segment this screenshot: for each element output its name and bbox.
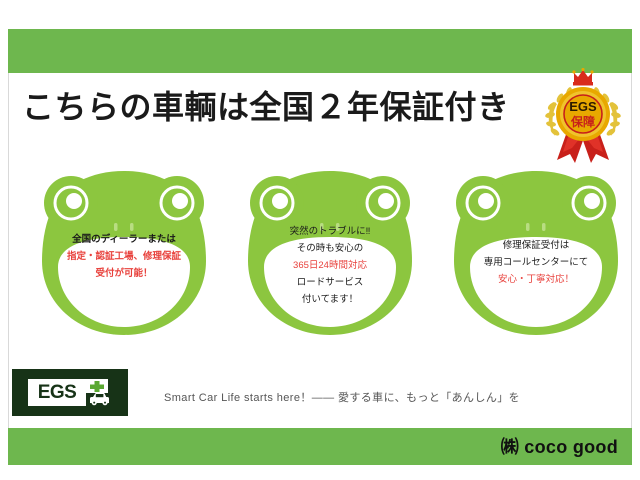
egs-logo-mark: [86, 379, 114, 406]
company-name: ㈱ coco good: [501, 438, 618, 456]
badge-line1: EGS: [569, 99, 597, 114]
panel-line: 修理保証受付は: [456, 237, 616, 254]
top-green-band: [8, 29, 632, 73]
panel-line: 指定・認証工場、修理保証: [44, 248, 204, 265]
feature-panels: 全国のディーラーまたは 指定・認証工場、修理保証 受付が可能！: [8, 163, 632, 343]
panel-text: 突然のトラブルに‼ その時も安心の 365日24時間対応 ロードサービス 付いて…: [250, 223, 410, 308]
tagline: Smart Car Life starts here！—— 愛する車に、もっと「…: [164, 393, 584, 404]
panel-line: その時も安心の: [250, 240, 410, 257]
panel-line: 全国のディーラーまたは: [44, 231, 204, 248]
panel-line: ロードサービス: [250, 274, 410, 291]
panel-line: 突然のトラブルに‼: [250, 223, 410, 240]
badge-line2: 保障: [570, 114, 595, 129]
panel-line: 安心・丁寧対応！: [456, 271, 616, 288]
panel-dealer-network: 全国のディーラーまたは 指定・認証工場、修理保証 受付が可能！: [24, 163, 224, 343]
page-title: こちらの車輌は全国２年保証付き: [22, 91, 542, 123]
warranty-badge: EGS 保障: [541, 68, 625, 164]
advertisement-banner: こちらの車輌は全国２年保証付き: [0, 0, 640, 480]
egs-wordmark-box: EGS: [28, 379, 86, 406]
panel-line: 専用コールセンターにて: [456, 254, 616, 271]
egs-logo: EGS: [12, 369, 128, 416]
egs-wordmark: EGS: [38, 383, 77, 402]
panel-text: 修理保証受付は 専用コールセンターにて 安心・丁寧対応！: [456, 237, 616, 288]
panel-line: 受付が可能！: [44, 265, 204, 282]
panel-line: 付いてます！: [250, 291, 410, 308]
panel-call-center: 修理保証受付は 専用コールセンターにて 安心・丁寧対応！: [436, 163, 636, 343]
egs-logo-inner: EGS: [28, 379, 112, 406]
panel-line: 365日24時間対応: [250, 257, 410, 274]
panel-text: 全国のディーラーまたは 指定・認証工場、修理保証 受付が可能！: [44, 231, 204, 282]
panel-road-service: 突然のトラブルに‼ その時も安心の 365日24時間対応 ロードサービス 付いて…: [230, 163, 430, 343]
crown-icon: [572, 68, 593, 86]
